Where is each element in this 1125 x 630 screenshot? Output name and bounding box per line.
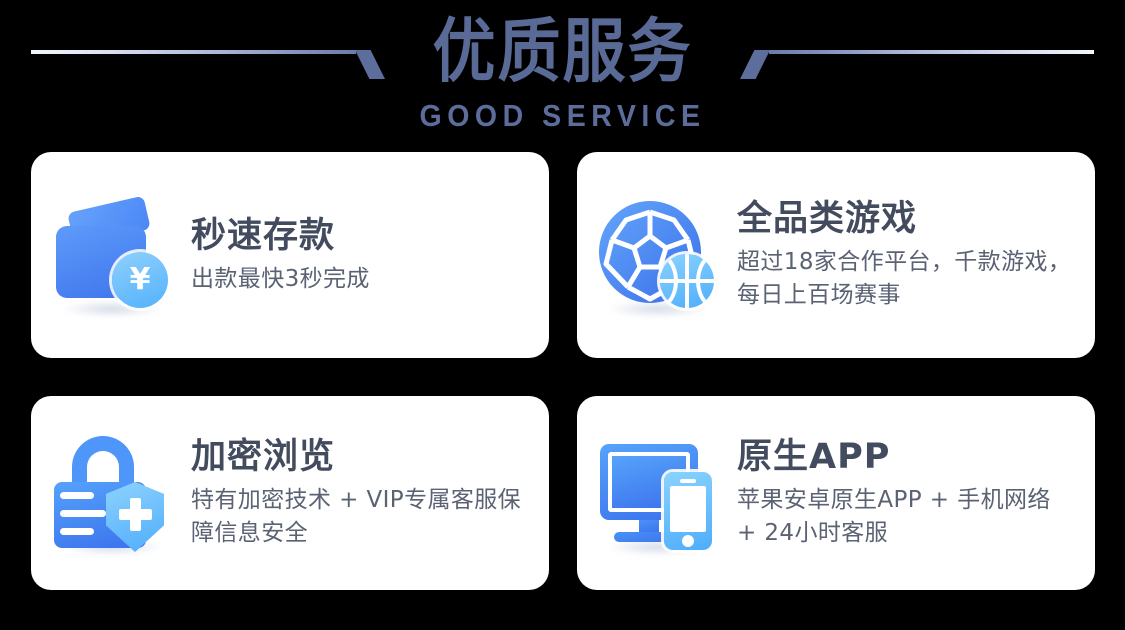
feature-card-grid: ¥ 秒速存款 出款最快3秒完成 [31,152,1095,590]
card-title: 全品类游戏 [737,198,1077,240]
feature-card-games[interactable]: 全品类游戏 超过18家合作平台，千款游戏，每日上百场赛事 [577,152,1095,358]
feature-card-native-app[interactable]: 原生APP 苹果安卓原生APP + 手机网络 + 24小时客服 [577,396,1095,590]
promo-banner: 优质服务 GOOD SERVICE ¥ 秒速存款 出款最快3秒完成 [0,0,1125,630]
card-description: 出款最快3秒完成 [191,263,531,296]
wallet-yen-icon: ¥ [31,152,191,358]
card-title: 秒速存款 [191,215,531,257]
card-description: 苹果安卓原生APP + 手机网络 + 24小时客服 [737,484,1077,550]
card-text-block: 原生APP 苹果安卓原生APP + 手机网络 + 24小时客服 [737,436,1095,550]
yen-coin-icon: ¥ [112,252,168,308]
feature-card-deposit[interactable]: ¥ 秒速存款 出款最快3秒完成 [31,152,549,358]
page-title: 优质服务 [0,8,1125,96]
card-text-block: 加密浏览 特有加密技术 + VIP专属客服保障信息安全 [191,436,549,550]
basketball-icon [660,254,714,308]
card-title: 原生APP [737,436,1077,478]
smartphone-icon [664,472,712,550]
card-description: 超过18家合作平台，千款游戏，每日上百场赛事 [737,246,1077,312]
card-text-block: 全品类游戏 超过18家合作平台，千款游戏，每日上百场赛事 [737,198,1095,312]
page-subtitle: GOOD SERVICE [45,98,1080,134]
soccer-basketball-icon [577,152,737,358]
card-title: 加密浏览 [191,436,531,478]
monitor-phone-icon [577,396,737,590]
banner-header: 优质服务 GOOD SERVICE [0,0,1125,148]
card-text-block: 秒速存款 出款最快3秒完成 [191,215,549,296]
lock-shield-icon [31,396,191,590]
card-description: 特有加密技术 + VIP专属客服保障信息安全 [191,484,531,550]
feature-card-encryption[interactable]: 加密浏览 特有加密技术 + VIP专属客服保障信息安全 [31,396,549,590]
